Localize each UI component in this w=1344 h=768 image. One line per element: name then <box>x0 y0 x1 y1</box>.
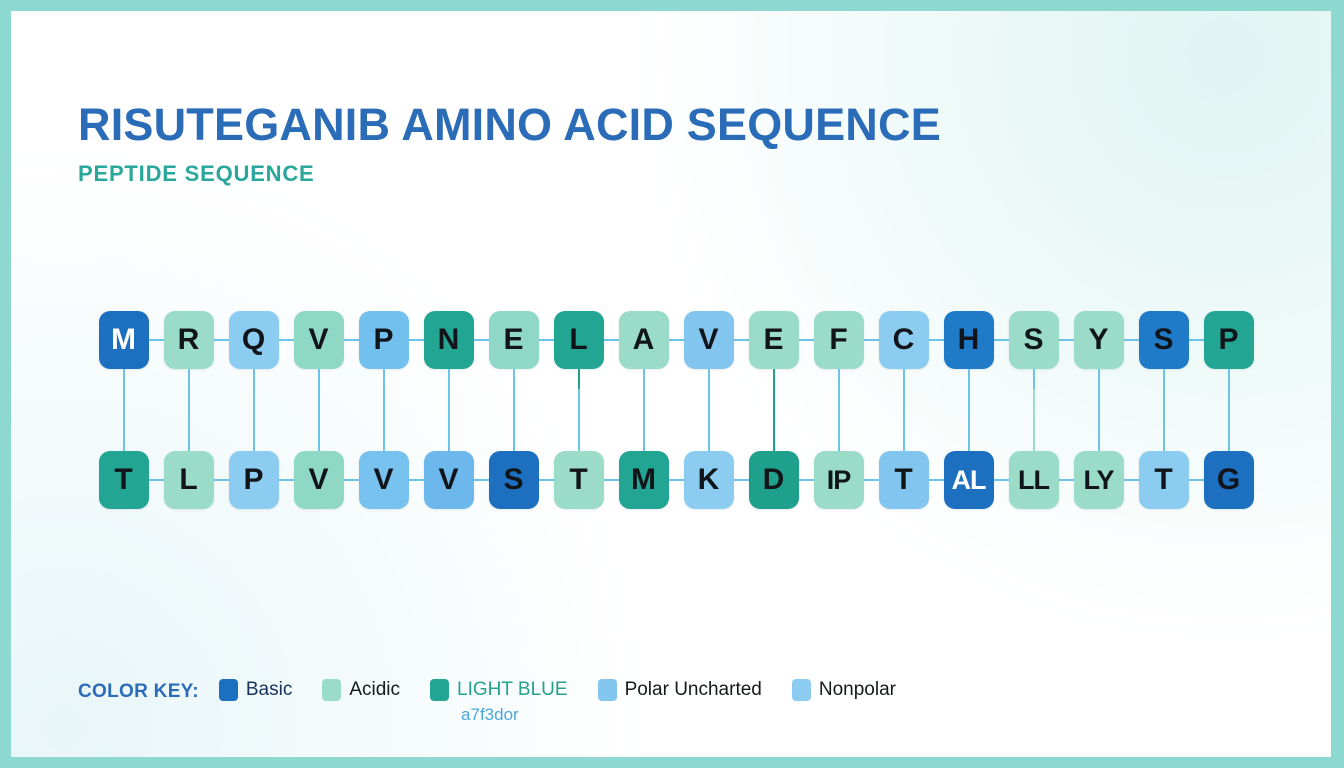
residue-slot: N <box>416 311 481 369</box>
residue-tile[interactable]: T <box>1139 451 1189 509</box>
residue-tile[interactable]: M <box>619 451 669 509</box>
residue-slot: P <box>221 451 286 509</box>
residue-label: L <box>569 323 587 357</box>
residue-tile[interactable]: G <box>1204 451 1254 509</box>
legend-label: Polar Uncharted <box>625 679 762 701</box>
backbone-stem <box>188 389 190 451</box>
residue-tile[interactable]: S <box>489 451 539 509</box>
legend-item[interactable]: Basic <box>219 679 292 701</box>
backbone-stem <box>838 389 840 451</box>
color-key-legend: COLOR KEY: BasicAcidicLIGHT BLUEa7f3dorP… <box>78 679 926 726</box>
residue-slot: V <box>351 451 416 509</box>
residue-slot: L <box>546 311 611 369</box>
residue-slot: LY <box>1066 451 1131 509</box>
residue-slot: D <box>741 451 806 509</box>
legend-items: BasicAcidicLIGHT BLUEa7f3dorPolar Unchar… <box>219 679 926 726</box>
residue-tile[interactable]: LL <box>1009 451 1059 509</box>
legend-swatch-icon <box>430 679 449 701</box>
residue-tile[interactable]: E <box>489 311 539 369</box>
residue-label: N <box>438 323 460 357</box>
legend-item[interactable]: Nonpolar <box>792 679 896 701</box>
residue-slot: E <box>481 311 546 369</box>
residue-tile[interactable]: S <box>1009 311 1059 369</box>
residue-slot: S <box>481 451 546 509</box>
residue-tile[interactable]: L <box>164 451 214 509</box>
residue-slot: M <box>91 311 156 369</box>
legend-text-group: Basic <box>246 679 292 701</box>
legend-text-group: LIGHT BLUEa7f3dor <box>457 679 568 726</box>
residue-tile[interactable]: L <box>554 311 604 369</box>
residue-slot: LL <box>1001 451 1066 509</box>
residue-tile[interactable]: P <box>229 451 279 509</box>
residue-label: LY <box>1083 465 1113 496</box>
residue-slot: P <box>1196 311 1261 369</box>
residue-slot: V <box>416 451 481 509</box>
residue-label: Q <box>242 323 265 357</box>
residue-tile[interactable]: V <box>359 451 409 509</box>
residue-tile[interactable]: IP <box>814 451 864 509</box>
legend-label: Nonpolar <box>819 679 896 701</box>
residue-label: V <box>373 463 393 497</box>
poster-card: RISUTEGANIB AMINO ACID SEQUENCE PEPTIDE … <box>11 11 1331 757</box>
backbone-stem <box>1163 389 1165 451</box>
residue-label: P <box>1218 323 1238 357</box>
page-title: RISUTEGANIB AMINO ACID SEQUENCE <box>78 102 941 147</box>
legend-item[interactable]: LIGHT BLUEa7f3dor <box>430 679 568 726</box>
residue-tile[interactable]: V <box>294 451 344 509</box>
sequence-row-2: TLPVVVSTMKDIPTALLLLYTG <box>91 451 1261 509</box>
residue-tile[interactable]: Q <box>229 311 279 369</box>
residue-label: L <box>179 463 197 497</box>
legend-label: LIGHT BLUE <box>457 679 568 701</box>
residue-label: Y <box>1088 323 1108 357</box>
backbone-stem <box>1228 389 1230 451</box>
residue-tile[interactable]: E <box>749 311 799 369</box>
residue-label: T <box>569 463 587 497</box>
residue-slot: P <box>351 311 416 369</box>
residue-tile[interactable]: R <box>164 311 214 369</box>
residue-slot: S <box>1001 311 1066 369</box>
residue-slot: C <box>871 311 936 369</box>
residue-tile[interactable]: C <box>879 311 929 369</box>
backbone-stem <box>448 389 450 451</box>
legend-text-group: Polar Uncharted <box>625 679 762 701</box>
residue-slot: E <box>741 311 806 369</box>
residue-label: LL <box>1018 465 1049 496</box>
residue-label: T <box>894 463 912 497</box>
residue-label: E <box>763 323 783 357</box>
backbone-stem <box>1098 389 1100 451</box>
legend-title: COLOR KEY: <box>78 679 199 703</box>
residue-slot: T <box>546 451 611 509</box>
residue-tile[interactable]: N <box>424 311 474 369</box>
residue-tile[interactable]: T <box>879 451 929 509</box>
legend-sublabel: a7f3dor <box>461 704 568 726</box>
residue-tile[interactable]: M <box>99 311 149 369</box>
residue-label: V <box>308 323 328 357</box>
backbone-stem <box>318 389 320 451</box>
residue-slot: L <box>156 451 221 509</box>
page-subtitle: PEPTIDE SEQUENCE <box>78 161 941 187</box>
residue-tile[interactable]: S <box>1139 311 1189 369</box>
legend-text-group: Nonpolar <box>819 679 896 701</box>
residue-label: T <box>114 463 132 497</box>
legend-text-group: Acidic <box>349 679 400 701</box>
residue-slot: H <box>936 311 1001 369</box>
residue-label: A <box>633 323 655 357</box>
residue-label: S <box>1023 323 1043 357</box>
residue-tile[interactable]: V <box>424 451 474 509</box>
residue-slot: Q <box>221 311 286 369</box>
backbone-stem <box>773 389 775 451</box>
residue-label: H <box>958 323 980 357</box>
residue-label: S <box>503 463 523 497</box>
backbone-stem <box>903 389 905 451</box>
residue-tile[interactable]: V <box>684 311 734 369</box>
residue-slot: A <box>611 311 676 369</box>
residue-tile[interactable]: A <box>619 311 669 369</box>
residue-label: V <box>698 323 718 357</box>
residue-tile[interactable]: LY <box>1074 451 1124 509</box>
residue-slot: R <box>156 311 221 369</box>
amino-acid-sequence: MRQVPNELAVEFCHSYSP TLPVVVSTMKDIPTALLLLYT… <box>91 311 1261 509</box>
legend-item[interactable]: Acidic <box>322 679 400 701</box>
residue-label: V <box>438 463 458 497</box>
residue-label: R <box>178 323 200 357</box>
legend-swatch-icon <box>792 679 811 701</box>
backbone-stem <box>1033 389 1035 451</box>
legend-swatch-icon <box>219 679 238 701</box>
residue-label: IP <box>827 465 851 496</box>
legend-label: Basic <box>246 679 292 701</box>
residue-label: M <box>631 463 656 497</box>
residue-label: T <box>1154 463 1172 497</box>
legend-label: Acidic <box>349 679 400 701</box>
residue-label: E <box>503 323 523 357</box>
backbone-stem <box>643 389 645 451</box>
poster-frame: RISUTEGANIB AMINO ACID SEQUENCE PEPTIDE … <box>0 0 1344 768</box>
residue-slot: S <box>1131 311 1196 369</box>
residue-slot: Y <box>1066 311 1131 369</box>
residue-slot: K <box>676 451 741 509</box>
residue-slot: V <box>286 311 351 369</box>
residue-label: F <box>829 323 847 357</box>
residue-slot: IP <box>806 451 871 509</box>
residue-label: C <box>893 323 915 357</box>
residue-tile[interactable]: T <box>99 451 149 509</box>
residue-tile[interactable]: F <box>814 311 864 369</box>
residue-label: G <box>1217 463 1240 497</box>
backbone-stem <box>253 389 255 451</box>
residue-slot: F <box>806 311 871 369</box>
residue-slot: V <box>286 451 351 509</box>
backbone-stem <box>968 389 970 451</box>
residue-label: V <box>308 463 328 497</box>
residue-label: P <box>243 463 263 497</box>
residue-slot: T <box>1131 451 1196 509</box>
residue-tile[interactable]: P <box>359 311 409 369</box>
residue-tile[interactable]: D <box>749 451 799 509</box>
residue-slot: M <box>611 451 676 509</box>
residue-slot: T <box>871 451 936 509</box>
backbone-stem <box>383 389 385 451</box>
sequence-row-1: MRQVPNELAVEFCHSYSP <box>91 311 1261 369</box>
residue-label: M <box>111 323 136 357</box>
residue-label: D <box>763 463 785 497</box>
legend-item[interactable]: Polar Uncharted <box>598 679 762 701</box>
backbone-stem <box>513 389 515 451</box>
residue-tile[interactable]: T <box>554 451 604 509</box>
residue-tile[interactable]: P <box>1204 311 1254 369</box>
residue-label: K <box>698 463 720 497</box>
residue-slot: V <box>676 311 741 369</box>
backbone-stem <box>123 389 125 451</box>
residue-slot: G <box>1196 451 1261 509</box>
header: RISUTEGANIB AMINO ACID SEQUENCE PEPTIDE … <box>78 102 941 187</box>
residue-tile[interactable]: Y <box>1074 311 1124 369</box>
residue-tile[interactable]: AL <box>944 451 994 509</box>
legend-swatch-icon <box>322 679 341 701</box>
legend-swatch-icon <box>598 679 617 701</box>
residue-label: AL <box>952 465 986 496</box>
residue-slot: T <box>91 451 156 509</box>
residue-label: P <box>373 323 393 357</box>
residue-tile[interactable]: H <box>944 311 994 369</box>
backbone-stem <box>578 389 580 451</box>
residue-slot: AL <box>936 451 1001 509</box>
backbone-stem <box>708 389 710 451</box>
residue-tile[interactable]: K <box>684 451 734 509</box>
residue-tile[interactable]: V <box>294 311 344 369</box>
residue-label: S <box>1153 323 1173 357</box>
